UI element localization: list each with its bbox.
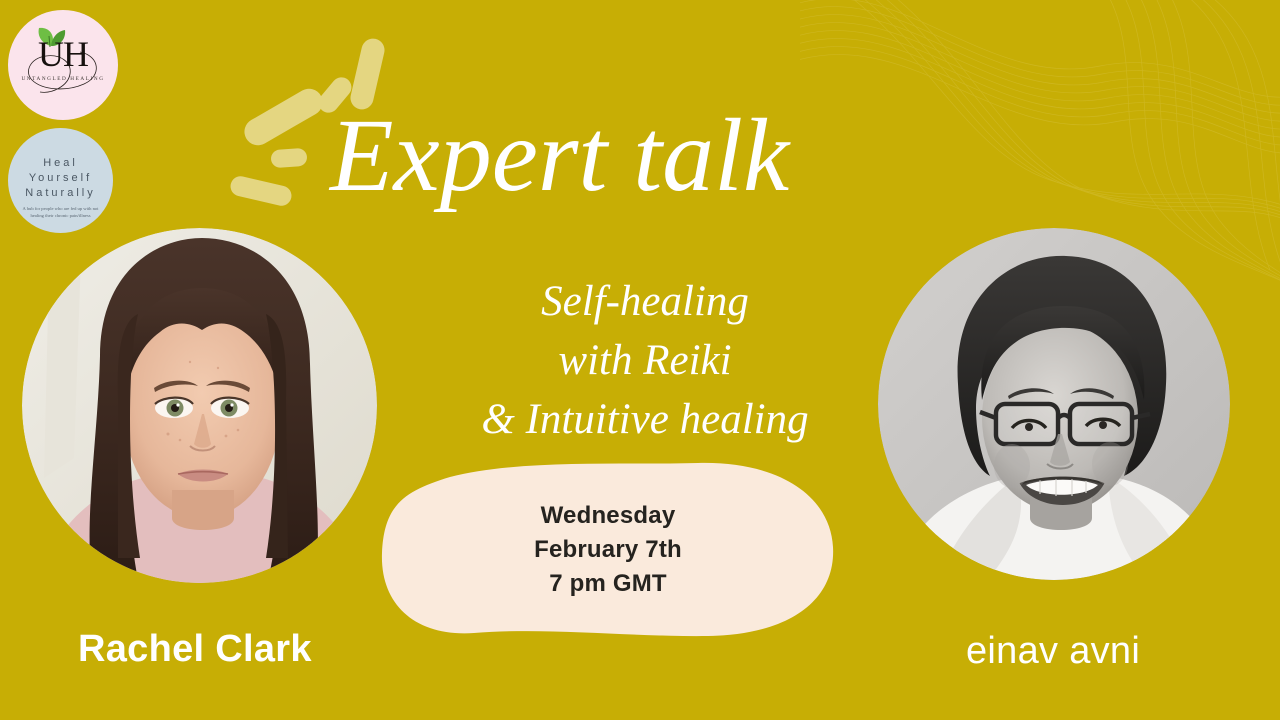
date-badge: Wednesday February 7th 7 pm GMT bbox=[378, 455, 838, 645]
date-time: 7 pm GMT bbox=[378, 567, 838, 601]
portrait-illustration-right bbox=[878, 228, 1230, 580]
date-date: February 7th bbox=[378, 533, 838, 567]
logo-monogram: UH bbox=[8, 36, 118, 72]
speaker-name-right: einav avni bbox=[966, 630, 1140, 673]
burst-ray-5 bbox=[229, 174, 294, 207]
logo-line-3: Naturally bbox=[8, 186, 113, 201]
expert-talk-flyer: UH UNTANGLED HEALING Heal Yourself Natur… bbox=[0, 0, 1280, 720]
subtitle-line-3: & Intuitive healing bbox=[400, 390, 890, 449]
speaker-name-left: Rachel Clark bbox=[78, 628, 312, 671]
portrait-illustration-left bbox=[22, 228, 377, 583]
burst-ray-4 bbox=[270, 148, 307, 168]
speaker-photo-rachel-clark bbox=[22, 228, 377, 583]
subtitle-line-2: with Reiki bbox=[400, 331, 890, 390]
date-badge-text: Wednesday February 7th 7 pm GMT bbox=[378, 499, 838, 601]
logo-tagline: A hub for people who are fed up with not… bbox=[8, 206, 113, 219]
page-title: Expert talk bbox=[330, 104, 950, 208]
burst-ray-3 bbox=[240, 84, 328, 150]
subtitle-line-1: Self-healing bbox=[400, 272, 890, 331]
logo-wordmark: UNTANGLED HEALING bbox=[8, 76, 118, 82]
logo-line-1: Heal bbox=[8, 156, 113, 171]
logo-line-2: Yourself bbox=[8, 171, 113, 186]
speaker-photo-einav-avni bbox=[878, 228, 1230, 580]
logo-heal-yourself-naturally: Heal Yourself Naturally A hub for people… bbox=[8, 128, 113, 233]
talk-subtitle: Self-healing with Reiki & Intuitive heal… bbox=[400, 272, 890, 449]
date-day: Wednesday bbox=[378, 499, 838, 533]
logo-untangled-healing: UH UNTANGLED HEALING bbox=[8, 10, 118, 120]
